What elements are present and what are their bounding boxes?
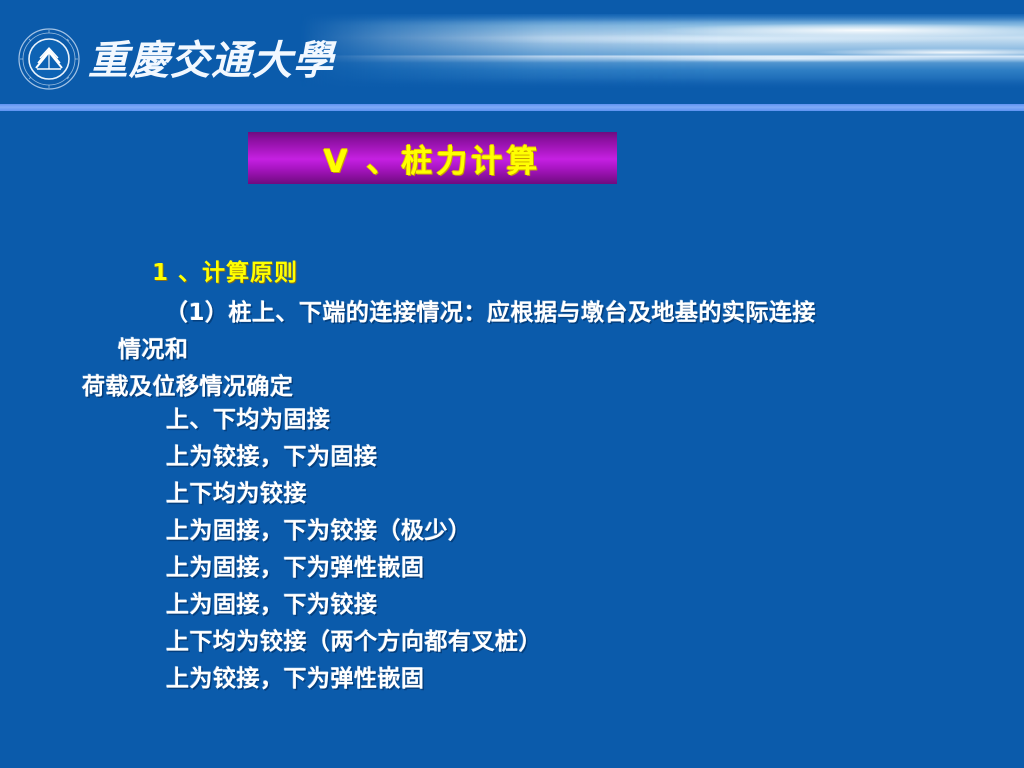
paragraph-line-1: （1）桩上、下端的连接情况：应根据与墩台及地基的实际连接 — [165, 293, 816, 327]
list-item: 上为固接，下为铰接（极少） — [166, 513, 542, 550]
list-item: 上下均为铰接（两个方向都有叉桩） — [166, 624, 542, 661]
list-item: 上为固接，下为弹性嵌固 — [166, 550, 542, 587]
photo-top-fade — [300, 8, 1024, 22]
section-heading: 1 、计算原则 — [152, 253, 298, 287]
slide-header: 重慶交通大學 — [0, 0, 1024, 104]
chongqing-jiaotong-university-emblem-icon — [18, 28, 80, 90]
university-name-calligraphy: 重慶交通大學 — [88, 28, 338, 90]
presentation-slide: 重慶交通大學 Ⅴ 、桩力计算 1 、计算原则 （1）桩上、下端的连接情况：应根据… — [0, 0, 1024, 768]
paragraph-line-3: 荷载及位移情况确定 — [82, 367, 294, 401]
photo-bottom-fade — [300, 78, 1024, 94]
slide-title-banner: Ⅴ 、桩力计算 — [248, 132, 617, 184]
list-item: 上、下均为固接 — [166, 402, 542, 439]
slide-title-text: Ⅴ 、桩力计算 — [324, 136, 542, 181]
list-item: 上下均为铰接 — [166, 476, 542, 513]
bridge-panorama-photo — [300, 14, 1024, 88]
header-separator-dark — [0, 111, 1024, 117]
slide-body: 1 、计算原则 （1）桩上、下端的连接情况：应根据与墩台及地基的实际连接 情况和… — [0, 190, 1024, 768]
header-separator-light — [0, 104, 1024, 111]
list-item: 上为固接，下为铰接 — [166, 587, 542, 624]
list-item: 上为铰接，下为弹性嵌固 — [166, 661, 542, 698]
svg-text:重慶交通大學: 重慶交通大學 — [88, 37, 337, 84]
paragraph-line-2: 情况和 — [118, 330, 189, 364]
connection-condition-list: 上、下均为固接 上为铰接，下为固接 上下均为铰接 上为固接，下为铰接（极少） 上… — [166, 402, 542, 698]
list-item: 上为铰接，下为固接 — [166, 439, 542, 476]
